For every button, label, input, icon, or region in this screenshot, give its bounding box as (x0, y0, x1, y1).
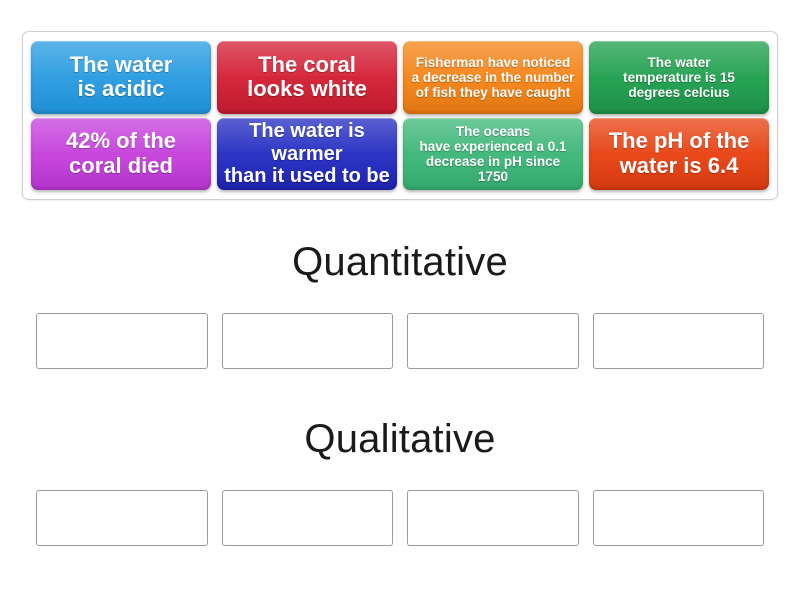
group-heading-quantitative: Quantitative (0, 240, 800, 285)
dropzone-qualitative-1[interactable] (36, 490, 208, 546)
dropzone-quantitative-2[interactable] (222, 313, 394, 369)
answer-tile-label: The pH of the water is 6.4 (609, 129, 750, 178)
answer-tile-label: Fisherman have noticed a decrease in the… (412, 55, 575, 100)
group-heading-qualitative: Qualitative (0, 417, 800, 462)
dropzone-quantitative-4[interactable] (593, 313, 765, 369)
answer-tile[interactable]: The water is acidic (31, 41, 211, 114)
dropzone-row-qualitative (36, 490, 764, 546)
answer-tile[interactable]: The pH of the water is 6.4 (589, 118, 769, 191)
answer-tile-label: The water temperature is 15 degrees celc… (623, 55, 735, 100)
answer-tile[interactable]: The oceans have experienced a 0.1 decrea… (403, 118, 583, 191)
answer-tile-label: The oceans have experienced a 0.1 decrea… (409, 124, 577, 184)
dropzone-quantitative-3[interactable] (407, 313, 579, 369)
dropzone-qualitative-3[interactable] (407, 490, 579, 546)
answer-tile-label: The coral looks white (247, 53, 367, 102)
answer-tile-label: The water is warmer than it used to be (223, 120, 391, 187)
answer-tile-label: 42% of the coral died (66, 129, 176, 178)
answer-tile[interactable]: The coral looks white (217, 41, 397, 114)
answer-tile-label: The water is acidic (70, 53, 173, 102)
answer-tile[interactable]: 42% of the coral died (31, 118, 211, 191)
answer-tile[interactable]: The water is warmer than it used to be (217, 118, 397, 191)
dropzone-quantitative-1[interactable] (36, 313, 208, 369)
dropzone-qualitative-4[interactable] (593, 490, 765, 546)
answer-tiles-tray: The water is acidic The coral looks whit… (22, 31, 778, 200)
answer-tile[interactable]: Fisherman have noticed a decrease in the… (403, 41, 583, 114)
answer-tile[interactable]: The water temperature is 15 degrees celc… (589, 41, 769, 114)
answer-tiles-grid: The water is acidic The coral looks whit… (23, 32, 777, 199)
dropzone-row-quantitative (36, 313, 764, 369)
dropzone-qualitative-2[interactable] (222, 490, 394, 546)
